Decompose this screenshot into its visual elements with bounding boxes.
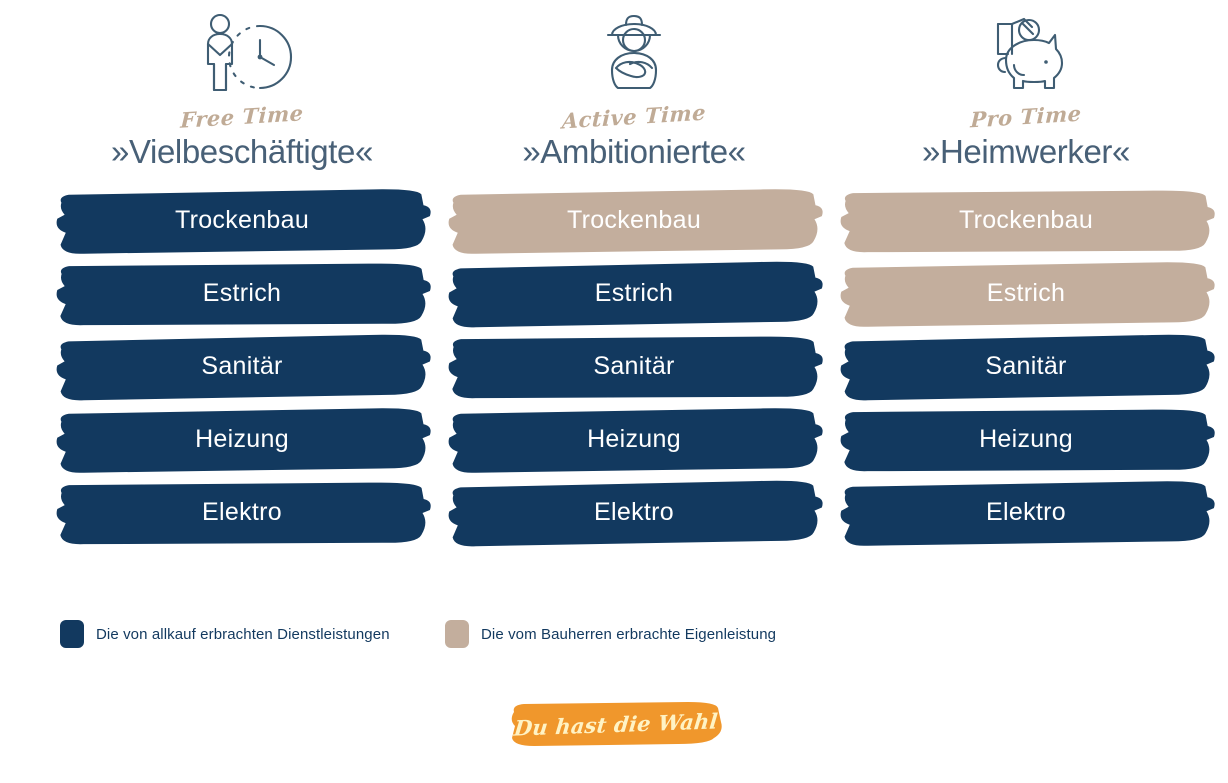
bar-row[interactable]: Sanitär <box>52 332 432 404</box>
column-title: »Ambitionierte« <box>444 135 824 170</box>
legend-swatch-owner <box>445 620 469 648</box>
bar-row[interactable]: Heizung <box>444 405 824 477</box>
person-with-clock-icon <box>52 8 432 104</box>
bar-row[interactable]: Trockenbau <box>52 186 432 258</box>
bar-row[interactable]: Trockenbau <box>836 186 1216 258</box>
bar-row[interactable]: Elektro <box>444 478 824 550</box>
bar-list: Trockenbau Estrich Sanitär <box>444 186 824 550</box>
legend-item-owner: Die vom Bauherren erbrachte Eigenleistun… <box>445 620 776 648</box>
badge-brush-shape <box>508 700 724 748</box>
bar-row[interactable]: Sanitär <box>444 332 824 404</box>
bar-row[interactable]: Elektro <box>52 478 432 550</box>
column-title: »Heimwerker« <box>836 135 1216 170</box>
infographic-root: Free Time »Vielbeschäftigte« Trockenbau … <box>0 0 1228 783</box>
legend-label: Die vom Bauherren erbrachte Eigenleistun… <box>481 626 776 643</box>
package-columns: Free Time »Vielbeschäftigte« Trockenbau … <box>0 0 1228 551</box>
bar-row[interactable]: Estrich <box>52 259 432 331</box>
package-column-heimwerker: Pro Time »Heimwerker« Trockenbau Estrich <box>836 0 1216 551</box>
bar-row[interactable]: Sanitär <box>836 332 1216 404</box>
bar-row[interactable]: Trockenbau <box>444 186 824 258</box>
bar-row[interactable]: Estrich <box>836 259 1216 331</box>
legend: Die von allkauf erbrachten Dienstleistun… <box>0 612 1228 662</box>
column-header: Active Time »Ambitionierte« <box>444 0 824 170</box>
package-column-vielbeschaeftigte: Free Time »Vielbeschäftigte« Trockenbau … <box>52 0 432 551</box>
bar-row[interactable]: Heizung <box>52 405 432 477</box>
column-title: »Vielbeschäftigte« <box>52 135 432 170</box>
bar-list: Trockenbau Estrich Sanitär <box>836 186 1216 550</box>
legend-swatch-service <box>60 620 84 648</box>
package-column-ambitionierte: Active Time »Ambitionierte« Trockenbau E… <box>444 0 824 551</box>
legend-item-service: Die von allkauf erbrachten Dienstleistun… <box>60 620 390 648</box>
bar-row[interactable]: Elektro <box>836 478 1216 550</box>
du-hast-die-wahl-badge[interactable]: Du hast die Wahl <box>508 700 724 748</box>
piggy-bank-with-coin-icon <box>836 8 1216 104</box>
worker-with-helmet-icon <box>444 8 824 104</box>
bar-row[interactable]: Estrich <box>444 259 824 331</box>
bar-list: Trockenbau Estrich Sanitär <box>52 186 432 550</box>
column-header: Free Time »Vielbeschäftigte« <box>52 0 432 170</box>
column-header: Pro Time »Heimwerker« <box>836 0 1216 170</box>
legend-label: Die von allkauf erbrachten Dienstleistun… <box>96 626 390 643</box>
bar-row[interactable]: Heizung <box>836 405 1216 477</box>
